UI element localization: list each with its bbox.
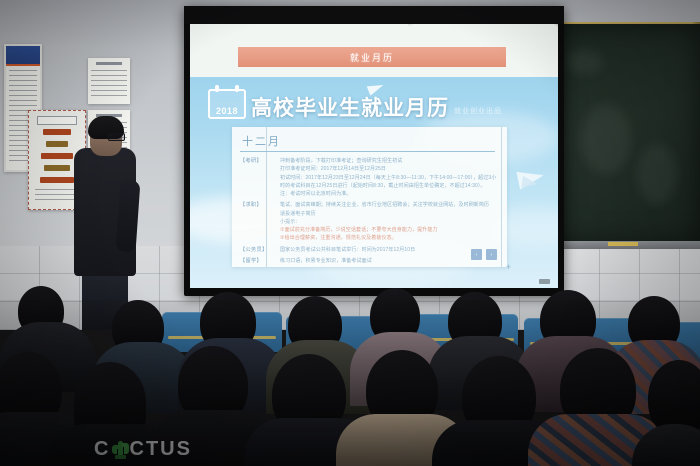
slide-nav-buttons[interactable]: ‹ › (471, 249, 497, 260)
presentation-slide: 就业月历 2018 高校毕业生就业月历 就业创业出品 (190, 24, 558, 288)
card-right-rule (501, 127, 502, 267)
row-text: 练习口语，积累专业知识，准备考试面试 (280, 257, 498, 265)
content-row-liuxue: 【留学】 练习口语，积累专业知识，准备考试面试 (240, 257, 498, 265)
next-button[interactable]: › (486, 249, 497, 260)
tips-label: 小提示： (280, 218, 498, 226)
tip-line: ②给出合理薪资，注重沟通，规范礼仪及着装仪态。 (280, 234, 498, 242)
projection-screen: 就业月历 2018 高校毕业生就业月历 就业创业出品 (190, 24, 558, 288)
watermark-text-right: CTUS (130, 439, 192, 459)
content-row-kaoyan: 【考研】 冲刺备考阶段，下载打印准考证；查询研究生招生初试 打印准考证时间：20… (240, 157, 498, 198)
row-line: 冲刺备考阶段，下载打印准考证；查询研究生招生初试 (280, 157, 498, 165)
poster-title-box (37, 116, 77, 125)
card-month-title: 十二月 (242, 133, 281, 149)
row-line: 适投递电子简历 (280, 210, 498, 218)
cactus-icon (112, 439, 129, 459)
watermark-text-left: C (94, 439, 110, 459)
row-text: 国家公务员考试公共科目笔试举行：时间为2017年12月10日 (280, 246, 498, 254)
row-label: 【考研】 (240, 157, 280, 198)
card-corner-marker: + (506, 262, 511, 272)
green-chalkboard (553, 24, 700, 246)
slide-header-banner: 就业月历 (238, 47, 506, 67)
tip-line: ①面试前充分准备简历，少说空话套话；不要夸大自身能力，提升能力 (280, 226, 498, 234)
row-line: 时的考试科目在12月25日进行（起始时间8:30，截止时间由招生单位确定，不超过… (280, 182, 498, 190)
slide-header-title: 就业月历 (350, 51, 394, 64)
chalk-piece (608, 242, 638, 246)
poster-footer-lines (35, 189, 79, 203)
projection-screen-frame: 就业月历 2018 高校毕业生就业月历 就业创业出品 (184, 6, 564, 296)
row-line: 注：考试时间以北京时间为准。 (280, 190, 498, 198)
prev-button[interactable]: ‹ (471, 249, 482, 260)
sheet-heading (96, 62, 122, 65)
classroom-photo: 就业月历 2018 高校毕业生就业月历 就业创业出品 (0, 0, 700, 466)
row-line: 初试时间：2017年12月23日至12月24日（每天上午8:30—11:30，下… (280, 174, 498, 182)
watermark: C CTUS (84, 432, 202, 466)
card-rows: 【考研】 冲刺备考阶段，下载打印准考证；查询研究生招生初试 打印准考证时间：20… (240, 157, 498, 268)
sheet-lines (91, 70, 127, 98)
slide-brand: 2018 高校毕业生就业月历 就业创业出品 (208, 89, 502, 119)
poster-header-band (6, 46, 40, 66)
row-label: 【留学】 (240, 257, 280, 265)
slide-brand-title: 高校毕业生就业月历 (251, 98, 449, 119)
announcement-sheet-upper (88, 58, 130, 104)
row-line: 打印准考证时间：2017年12月14日至12月25日 (280, 165, 498, 173)
presenter-glasses (108, 133, 125, 141)
screen-sensor-label (539, 279, 550, 284)
slide-body: 2018 高校毕业生就业月历 就业创业出品 十二月 【考研】 (190, 77, 558, 288)
calendar-icon: 2018 (208, 89, 246, 119)
paper-plane-icon-small (521, 176, 539, 190)
content-row-gongwuyuan: 【公务员】 国家公务员考试公共科目笔试举行：时间为2017年12月10日 (240, 246, 498, 254)
row-label: 【求职】 (240, 201, 280, 242)
row-text: 笔试、面试高峰期；持续关注企业、省市行业地区招聘会；关注学校就业网站，及时刷新简… (280, 201, 498, 242)
card-divider (240, 151, 495, 152)
screen-top-bar (184, 6, 564, 24)
slide-brand-subtitle: 就业创业出品 (454, 106, 502, 116)
content-row-qiuzhi: 【求职】 笔试、面试高峰期；持续关注企业、省市行业地区招聘会；关注学校就业网站，… (240, 201, 498, 242)
calendar-year: 2018 (210, 106, 244, 116)
slide-content-card: 十二月 【考研】 冲刺备考阶段，下载打印准考证；查询研究生招生初试 打印准考证时… (232, 127, 507, 267)
row-label: 【公务员】 (240, 246, 280, 254)
row-line: 笔试、面试高峰期；持续关注企业、省市行业地区招聘会；关注学校就业网站，及时刷新简… (280, 201, 498, 209)
row-text: 冲刺备考阶段，下载打印准考证；查询研究生招生初试 打印准考证时间：2017年12… (280, 157, 498, 198)
